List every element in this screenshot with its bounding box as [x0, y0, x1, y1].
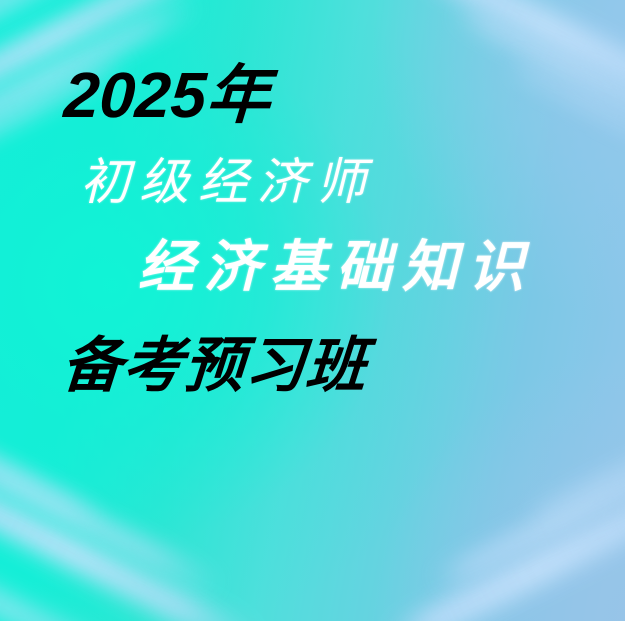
course-cover-poster: 2025年 初级经济师 经济基础知识 备考预习班 — [0, 0, 625, 621]
poster-year-line: 2025年 — [62, 63, 272, 127]
poster-title-line: 经济基础知识 — [138, 240, 534, 296]
poster-subject-line: 初级经济师 — [80, 157, 375, 207]
poster-text-block: 2025年 初级经济师 经济基础知识 备考预习班 — [0, 0, 625, 621]
poster-class-line: 备考预习班 — [60, 336, 369, 396]
